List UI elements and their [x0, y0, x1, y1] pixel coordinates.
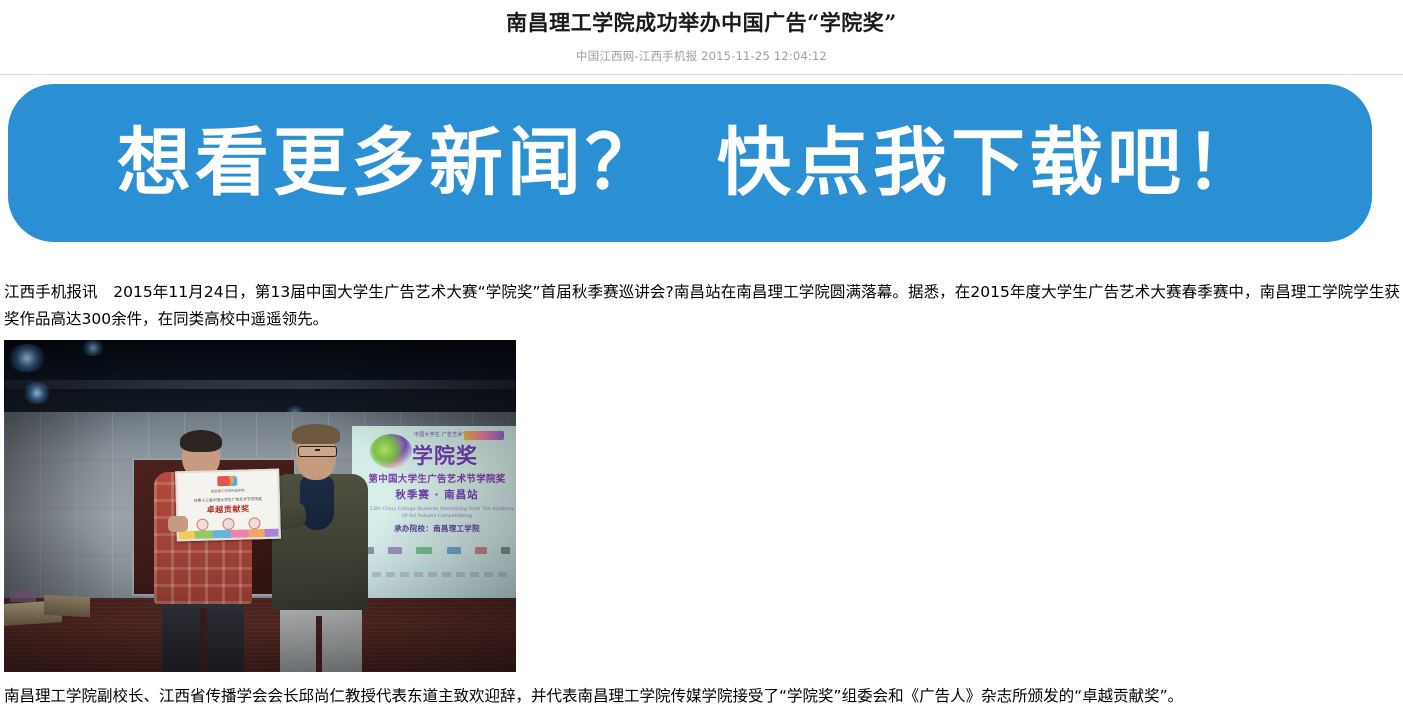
- download-promo-banner[interactable]: 想看更多新闻？ 快点我下载吧！: [8, 84, 1372, 242]
- certificate-award-text: 卓越贡献奖: [178, 504, 278, 517]
- page-title: 南昌理工学院成功举办中国广告“学院奖”: [0, 8, 1403, 38]
- event-logo-icon: [370, 434, 412, 468]
- screen-sponsor-logos: [358, 544, 510, 556]
- glasses-icon: [298, 446, 337, 457]
- photo-floor-item: [10, 590, 36, 602]
- photo-floor-box: [44, 595, 90, 617]
- header-divider: [0, 74, 1403, 75]
- screen-badge: [464, 431, 504, 440]
- photo-certificate: 南昌理工学院传媒学院 在第十三届中国大学生广告艺术节学院奖 卓越贡献奖: [175, 469, 281, 542]
- article-body: 江西手机报讯 2015年11月24日，第13届中国大学生广告艺术大赛“学院奖”首…: [4, 279, 1400, 333]
- photo-person-left-hand: [168, 516, 188, 532]
- photo-person-left-hair: [180, 430, 222, 452]
- photo-projection-screen: 中国大学生 广告艺术节 学院奖 第中国大学生广告艺术节学院奖 秋季赛 · 南昌站…: [352, 426, 516, 602]
- photo-spotlight-icon: [22, 382, 52, 404]
- certificate-line-1: 南昌理工学院传媒学院: [178, 488, 278, 496]
- screen-subtitle-2: 秋季赛 · 南昌站: [358, 489, 516, 502]
- screen-subtitle-1: 第中国大学生广告艺术节学院奖: [358, 474, 516, 486]
- photo-caption: 南昌理工学院副校长、江西省传播学会会长邱尚仁教授代表东道主致欢迎辞，并代表南昌理…: [4, 684, 1400, 708]
- screen-host-line: 承办院校：南昌理工学院: [358, 524, 516, 534]
- certificate-color-band: [179, 529, 279, 540]
- article-photo: 中国大学生 广告艺术节 学院奖 第中国大学生广告艺术节学院奖 秋季赛 · 南昌站…: [4, 340, 516, 672]
- screen-award-title: 学院奖: [412, 444, 478, 468]
- photo-spotlight-icon: [6, 344, 48, 372]
- article-byline: 中国江西网-江西手机报 2015-11-25 12:04:12: [0, 48, 1403, 64]
- photo-spotlight-icon: [80, 340, 106, 356]
- photo-frame: 中国大学生 广告艺术节 学院奖 第中国大学生广告艺术节学院奖 秋季赛 · 南昌站…: [4, 340, 516, 672]
- screen-logo-top-text: 中国大学生 广告艺术节: [414, 432, 468, 439]
- certificate-line-2: 在第十三届中国大学生广告艺术节学院奖: [178, 496, 278, 504]
- screen-english-line: The 13th China College Students Advertis…: [358, 506, 516, 520]
- photo-person-right-leg-gap: [316, 616, 322, 672]
- promo-line-1: 想看更多新闻？: [117, 121, 663, 205]
- screen-footer-strip: [358, 572, 510, 577]
- certificate-logo-icon: [217, 476, 237, 487]
- photo-ceiling-beam: [4, 380, 516, 389]
- photo-person-right-cap: [292, 424, 340, 444]
- promo-banner-text: 想看更多新闻？ 快点我下载吧！: [8, 84, 1372, 242]
- article-header: 南昌理工学院成功举办中国广告“学院奖” 中国江西网-江西手机报 2015-11-…: [0, 0, 1403, 75]
- photo-person-left-leg-gap: [200, 608, 207, 672]
- promo-line-2: 快点我下载吧！: [717, 121, 1263, 205]
